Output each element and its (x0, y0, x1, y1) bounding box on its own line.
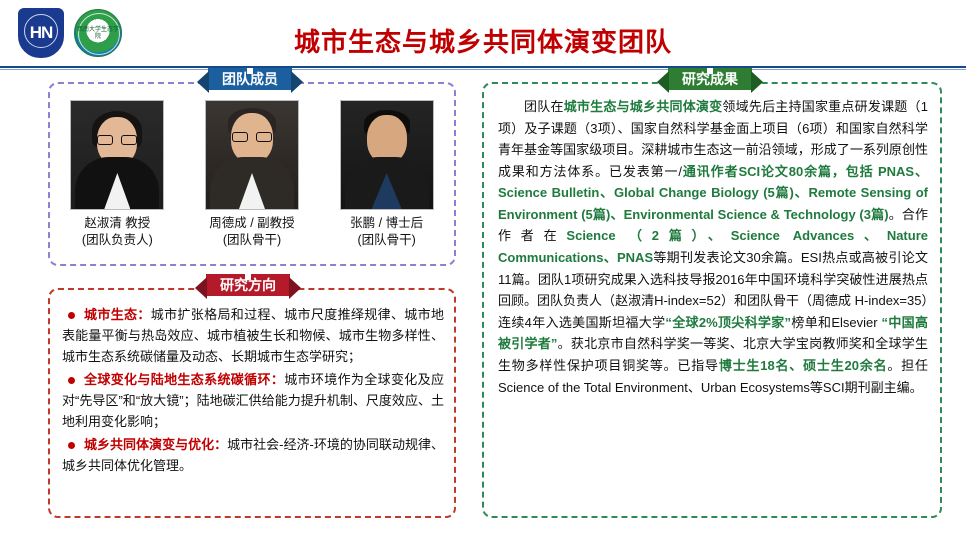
direction-item: 全球变化与陆地生态系统碳循环：城市环境作为全球变化及应对“先导区”和“放大镜”；… (62, 369, 444, 432)
member-photo (205, 100, 299, 210)
header-divider-secondary (0, 69, 966, 70)
research-results-paragraph: 团队在城市生态与城乡共同体演变领域先后主持国家重点研发课题（1项）及子课题（3项… (498, 96, 928, 398)
ribbon-right-tail-icon (751, 71, 763, 93)
direction-title: 全球变化与陆地生态系统碳循环： (84, 372, 284, 387)
bullet-icon (68, 377, 75, 384)
team-member-card: 赵淑清 教授 (团队负责人) (58, 100, 176, 249)
member-name: 赵淑清 教授 (58, 215, 176, 232)
ribbon-right-tail-icon (289, 277, 301, 299)
results-text-run: 博士生18名、硕士生20余名 (719, 358, 888, 373)
page-title: 城市生态与城乡共同体演变团队 (0, 22, 966, 59)
direction-title: 城市生态： (84, 307, 151, 322)
research-directions-body: 城市生态：城市扩张格局和过程、城市尺度推绎规律、城市地表能量平衡与热岛效应、城市… (62, 304, 444, 478)
member-photo (340, 100, 434, 210)
ribbon-right-tail-icon (291, 71, 303, 93)
section-heading-members: 团队成员 (208, 68, 292, 90)
member-photo (70, 100, 164, 210)
results-text-run: 城市生态与城乡共同体演变 (564, 99, 723, 114)
research-results-body: 团队在城市生态与城乡共同体演变领域先后主持国家重点研发课题（1项）及子课题（3项… (498, 96, 928, 398)
section-heading-directions: 研究方向 (206, 274, 290, 296)
research-results-panel: 团队在城市生态与城乡共同体演变领域先后主持国家重点研发课题（1项）及子课题（3项… (482, 82, 942, 518)
ribbon-left-tail-icon (657, 71, 669, 93)
direction-item: 城乡共同体演变与优化：城市社会-经济-环境的协同联动规律、城乡共同体优化管理。 (62, 434, 444, 476)
member-role: (团队骨干) (328, 232, 446, 249)
header: HN 西南大学生态学院 城市生态与城乡共同体演变团队 (0, 0, 966, 68)
poster-page: HN 西南大学生态学院 城市生态与城乡共同体演变团队 赵淑清 教授 (团队负责人… (0, 0, 966, 542)
results-text-run: 团队在 (524, 99, 564, 114)
section-heading-results-label: 研究成果 (682, 69, 738, 89)
team-members-row: 赵淑清 教授 (团队负责人) 周德成 / 副教授 (团队骨干) 张鹏 / 博士后 (50, 100, 454, 249)
ribbon-left-tail-icon (195, 277, 207, 299)
results-text-run: 榜单和Elsevier (791, 315, 881, 330)
direction-title: 城乡共同体演变与优化： (84, 437, 227, 452)
ribbon-left-tail-icon (197, 71, 209, 93)
research-directions-panel: 城市生态：城市扩张格局和过程、城市尺度推绎规律、城市地表能量平衡与热岛效应、城市… (48, 288, 456, 518)
header-divider (0, 66, 966, 68)
member-name: 周德成 / 副教授 (193, 215, 311, 232)
bullet-icon (68, 442, 75, 449)
team-member-card: 张鹏 / 博士后 (团队骨干) (328, 100, 446, 249)
direction-item: 城市生态：城市扩张格局和过程、城市尺度推绎规律、城市地表能量平衡与热岛效应、城市… (62, 304, 444, 367)
section-heading-results: 研究成果 (668, 68, 752, 90)
bullet-icon (68, 312, 75, 319)
member-role: (团队负责人) (58, 232, 176, 249)
section-heading-directions-label: 研究方向 (220, 275, 276, 295)
team-member-card: 周德成 / 副教授 (团队骨干) (193, 100, 311, 249)
member-name: 张鹏 / 博士后 (328, 215, 446, 232)
member-role: (团队骨干) (193, 232, 311, 249)
results-text-run: “全球2%顶尖科学家” (665, 315, 791, 330)
team-members-panel: 赵淑清 教授 (团队负责人) 周德成 / 副教授 (团队骨干) 张鹏 / 博士后 (48, 82, 456, 266)
section-heading-members-label: 团队成员 (222, 69, 278, 89)
